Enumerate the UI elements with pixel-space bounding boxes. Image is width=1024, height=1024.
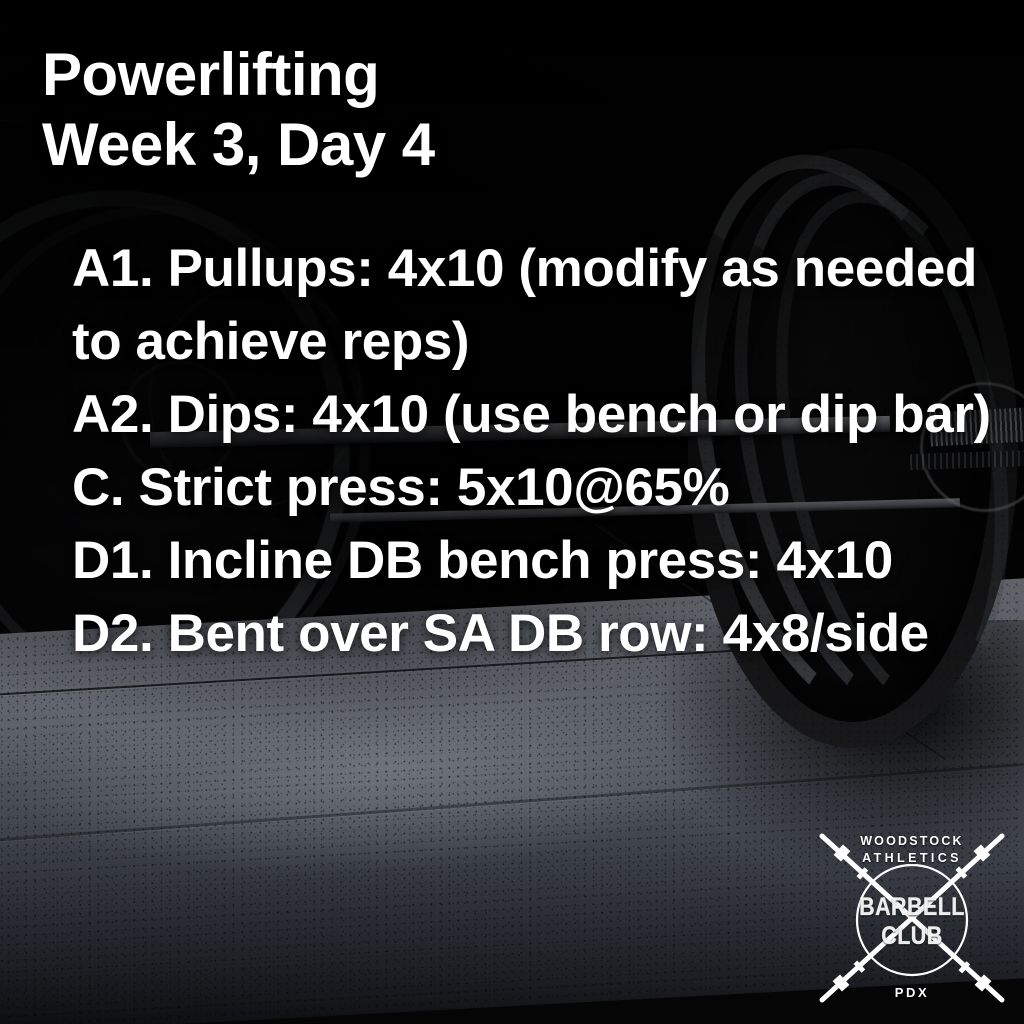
workout-line: D1. Incline DB bench press: 4x10 xyxy=(72,524,1024,597)
logo-barbell-text: BARBELL xyxy=(826,893,998,922)
workout-line: C. Strict press: 5x10@65% xyxy=(72,451,1024,524)
workout-line: to achieve reps) xyxy=(72,305,1024,378)
title-line-session: Week 3, Day 4 xyxy=(42,110,1002,180)
workout-line: D2. Bent over SA DB row: 4x8/side xyxy=(72,597,1024,670)
workout-line: A1. Pullups: 4x10 (modify as needed xyxy=(72,232,1024,305)
logo-woodstock-text: WOODSTOCK xyxy=(812,834,1012,848)
workout-list: A1. Pullups: 4x10 (modify as needed to a… xyxy=(72,232,1024,670)
workout-poster: Powerlifting Week 3, Day 4 A1. Pullups: … xyxy=(0,0,1024,1024)
woodstock-athletics-barbell-club-logo: WOODSTOCK ATHLETICS BARBELL CLUB PDX xyxy=(812,822,1012,1014)
logo-club-text: CLUB xyxy=(826,922,998,951)
logo-athletics-text: ATHLETICS xyxy=(812,851,1012,865)
poster-title: Powerlifting Week 3, Day 4 xyxy=(42,40,1002,180)
poster-content: Powerlifting Week 3, Day 4 A1. Pullups: … xyxy=(0,0,1024,1024)
logo-pdx-text: PDX xyxy=(812,985,1012,1000)
title-line-program: Powerlifting xyxy=(42,40,1002,110)
workout-line: A2. Dips: 4x10 (use bench or dip bar) xyxy=(72,378,1024,451)
